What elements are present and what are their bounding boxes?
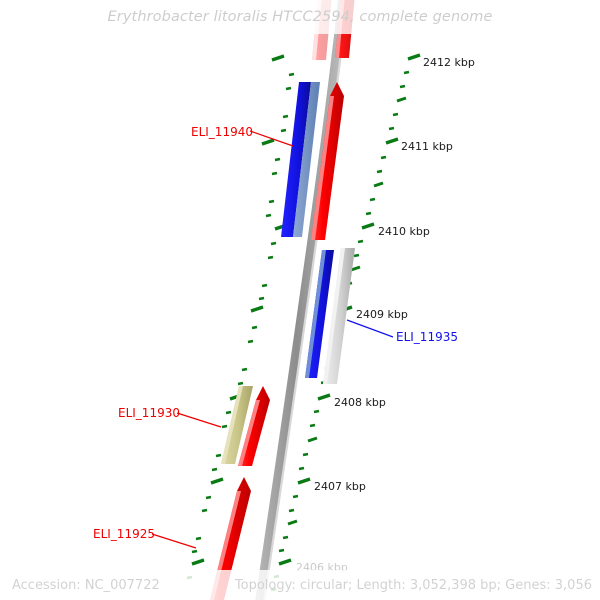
ruler-tick-minor (266, 215, 271, 216)
genome-map-canvas[interactable]: 2412 kbp 2411 kbp 2410 kbp 2409 kbp 2408… (0, 0, 600, 600)
ruler-tick-minor (377, 171, 382, 172)
ruler-tick-major (192, 560, 204, 564)
annotation-eli-11940[interactable]: ELI_11940 (191, 125, 293, 146)
ruler-tick-minor (202, 510, 207, 511)
ruler-tick-major (362, 224, 374, 228)
ruler-tick-major (318, 395, 330, 399)
leader-line (347, 320, 393, 337)
ruler-tick-minor (289, 510, 294, 511)
ruler-tick-minor (268, 257, 273, 258)
ruler-tick-minor (222, 426, 227, 427)
ruler-tick-minor (281, 130, 286, 131)
ruler-tick-minor (192, 551, 197, 552)
ruler-label: 2407 kbp (314, 480, 366, 493)
genome-map-viewer[interactable]: 2412 kbp 2411 kbp 2410 kbp 2409 kbp 2408… (0, 0, 600, 600)
ruler-tick-minor (262, 285, 267, 286)
ruler-tick-minor (289, 74, 294, 75)
ruler-tick-minor (293, 496, 298, 497)
annotation-label[interactable]: ELI_11930 (118, 406, 180, 420)
ruler-tick-mid (374, 183, 383, 186)
ruler-tick-minor (275, 159, 280, 160)
ruler-tick-major (386, 139, 398, 143)
footer-overlay-bar (0, 570, 600, 600)
ruler-label: 2412 kbp (423, 56, 475, 69)
ruler-tick-mid (397, 98, 406, 101)
ruler-tick-minor (271, 243, 276, 244)
ruler-tick-minor (286, 88, 291, 89)
ruler-tick-minor (242, 369, 247, 370)
ruler-tick-minor (252, 327, 257, 328)
leader-line (152, 534, 196, 548)
ruler-tick-minor (212, 469, 217, 470)
ruler-tick-minor (238, 383, 243, 384)
ruler-tick-minor (381, 157, 386, 158)
ruler-tick-minor (196, 538, 201, 539)
annotation-label[interactable]: ELI_11935 (396, 330, 458, 344)
ruler-tick-minor (366, 213, 371, 214)
ruler-tick-mid (308, 438, 317, 441)
ruler-tick-minor (269, 201, 274, 202)
ruler-tick-minor (303, 454, 308, 455)
ruler-tick-minor (358, 241, 363, 242)
ruler-tick-minor (248, 341, 253, 342)
annotation-eli-11925[interactable]: ELI_11925 (93, 527, 196, 548)
ruler-tick-major (279, 560, 291, 564)
ruler-label: 2409 kbp (356, 308, 408, 321)
ruler-tick-minor (279, 550, 284, 551)
ruler-tick-minor (272, 173, 277, 174)
ruler-tick-minor (259, 298, 264, 299)
ruler-tick-major (272, 56, 284, 60)
ruler-tick-minor (314, 411, 319, 412)
ruler-tick-minor (299, 468, 304, 469)
ruler-tick-major (251, 307, 263, 311)
ruler-tick-mid (288, 521, 297, 524)
ruler-tick-minor (370, 199, 375, 200)
ruler-tick-major (298, 479, 310, 483)
ruler-tick-minor (206, 497, 211, 498)
ruler-tick-minor (389, 128, 394, 129)
ruler-tick-minor (283, 537, 288, 538)
ruler-label: 2410 kbp (378, 225, 430, 238)
ruler-tick-minor (226, 412, 231, 413)
ruler-tick-minor (310, 425, 315, 426)
ruler-tick-minor (354, 255, 359, 256)
title-overlay-bar (0, 0, 600, 34)
ruler-tick-minor (283, 116, 288, 117)
annotation-label[interactable]: ELI_11940 (191, 125, 253, 139)
annotation-eli-11930[interactable]: ELI_11930 (118, 406, 221, 427)
ruler-tick-major (408, 55, 420, 59)
leader-line (177, 413, 221, 427)
annotation-eli-11935[interactable]: ELI_11935 (347, 320, 458, 344)
ruler-tick-minor (400, 86, 405, 87)
ruler-tick-minor (393, 114, 398, 115)
ruler-tick-major (211, 479, 223, 483)
leader-line (250, 131, 293, 146)
ruler-tick-minor (404, 72, 409, 73)
ruler-tick-major (262, 140, 274, 144)
ruler-label: 2408 kbp (334, 396, 386, 409)
annotation-label[interactable]: ELI_11925 (93, 527, 155, 541)
ruler-label: 2411 kbp (401, 140, 453, 153)
ruler-tick-minor (216, 455, 221, 456)
